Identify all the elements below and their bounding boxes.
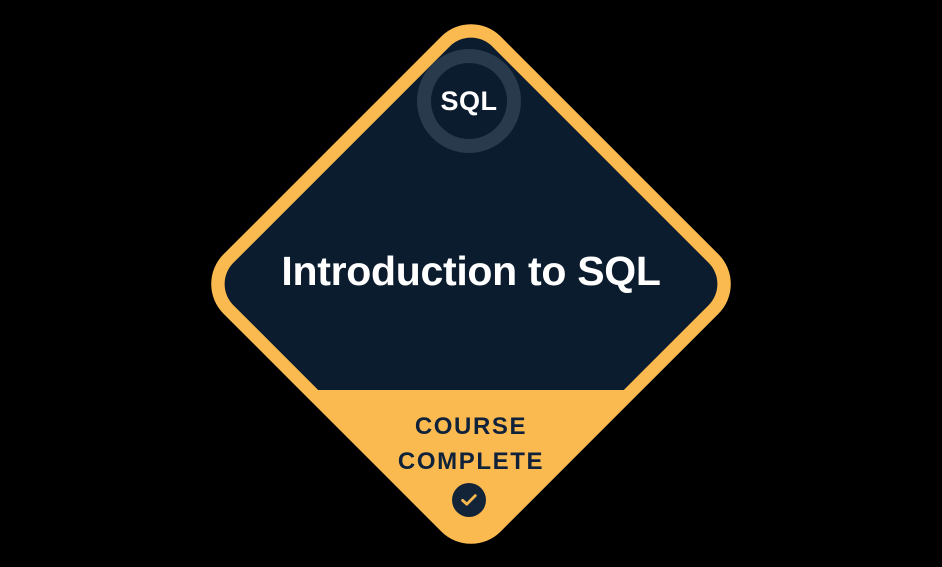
course-title: Introduction to SQL — [0, 245, 942, 297]
check-circle-icon — [452, 483, 486, 517]
course-completion-badge: SQL Introduction to SQL COURSE COMPLETE — [0, 0, 942, 567]
status-line-complete: COMPLETE — [0, 444, 942, 479]
status-line-course: COURSE — [0, 409, 942, 444]
sql-badge-label: SQL — [440, 88, 497, 115]
sql-subject-badge: SQL — [409, 41, 529, 161]
checkmark-glyph — [459, 490, 479, 510]
completion-status: COURSE COMPLETE — [0, 409, 942, 479]
